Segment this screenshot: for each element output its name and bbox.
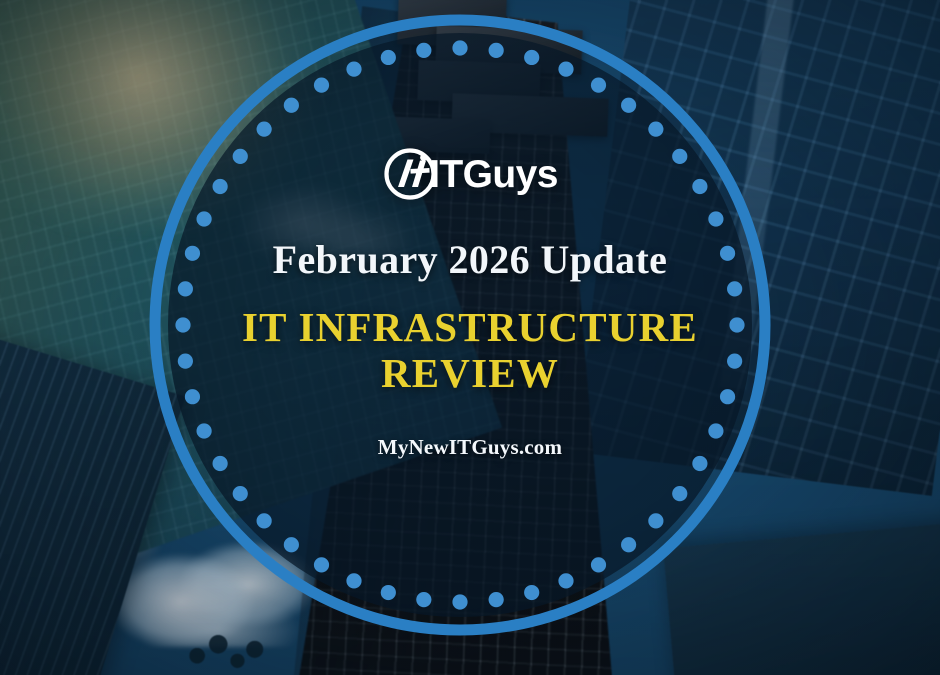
brand-wordmark: ITGuys bbox=[429, 155, 558, 194]
poster-canvas: ITGuys February 2026 Update IT INFRASTRU… bbox=[0, 0, 940, 675]
brand-logo[interactable]: ITGuys bbox=[382, 146, 558, 202]
subheadline: February 2026 Update bbox=[273, 236, 668, 283]
page-title: IT INFRASTRUCTURE REVIEW bbox=[210, 305, 730, 397]
poster-content: ITGuys February 2026 Update IT INFRASTRU… bbox=[0, 0, 940, 675]
website-url[interactable]: MyNewITGuys.com bbox=[378, 435, 562, 460]
